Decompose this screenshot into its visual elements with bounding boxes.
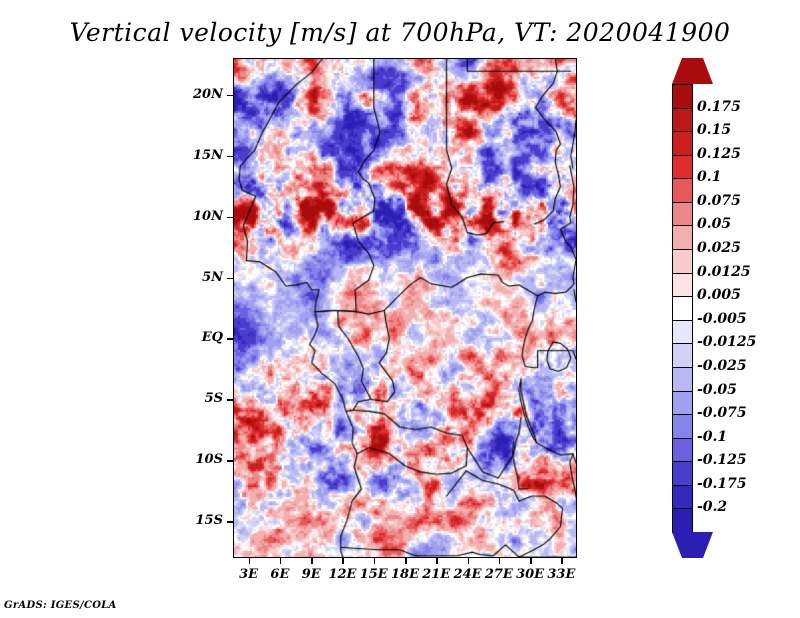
map-plot-area	[233, 58, 577, 558]
colorbar-swatch	[672, 249, 693, 274]
colorbar-tick-label: -0.1	[697, 429, 727, 445]
colorbar-swatch	[672, 391, 693, 416]
colorbar-tick-label: -0.05	[697, 382, 737, 398]
colorbar-tick-label: -0.025	[697, 358, 747, 374]
latitude-tick-label: 10S	[163, 452, 223, 467]
longitude-tick-mark	[468, 558, 470, 564]
colorbar-swatch	[672, 178, 693, 203]
latitude-tick-label: 10N	[163, 209, 223, 224]
longitude-tick-label: 33E	[541, 567, 581, 582]
colorbar-tick-label: -0.005	[697, 311, 747, 327]
latitude-tick-label: EQ	[163, 330, 223, 345]
longitude-tick-mark	[530, 558, 532, 564]
colorbar-tick-label: 0.075	[697, 193, 741, 209]
colorbar-swatch	[672, 155, 693, 180]
longitude-tick-mark	[561, 558, 563, 564]
latitude-tick-label: 5S	[163, 391, 223, 406]
latitude-tick-mark	[227, 156, 233, 158]
longitude-tick-mark	[436, 558, 438, 564]
longitude-tick-mark	[280, 558, 282, 564]
colorbar	[672, 58, 693, 558]
latitude-tick-mark	[227, 278, 233, 280]
longitude-tick-mark	[405, 558, 407, 564]
longitude-tick-mark	[374, 558, 376, 564]
colorbar-swatch	[672, 108, 693, 133]
colorbar-tick-label: -0.175	[697, 476, 747, 492]
colorbar-swatch	[672, 343, 693, 368]
colorbar-tick-label: -0.2	[697, 499, 727, 515]
colorbar-tick-label: -0.0125	[697, 334, 756, 350]
colorbar-swatch	[672, 131, 693, 156]
colorbar-swatch	[672, 320, 693, 345]
latitude-tick-label: 20N	[163, 87, 223, 102]
vertical-velocity-field	[234, 59, 576, 557]
latitude-tick-mark	[227, 338, 233, 340]
footer-credit: GrADS: IGES/COLA	[4, 600, 117, 611]
colorbar-tick-label: -0.075	[697, 405, 747, 421]
colorbar-tick-label: 0.125	[697, 146, 741, 162]
colorbar-swatch	[672, 84, 693, 109]
colorbar-bottom-arrow	[672, 532, 713, 558]
colorbar-swatch	[672, 438, 693, 463]
colorbar-tick-label: 0.175	[697, 99, 741, 115]
colorbar-tick-label: 0.005	[697, 287, 741, 303]
colorbar-swatch	[672, 273, 693, 298]
colorbar-swatch	[672, 202, 693, 227]
colorbar-tick-label: 0.05	[697, 216, 731, 232]
latitude-tick-mark	[227, 521, 233, 523]
colorbar-tick-label: -0.125	[697, 452, 747, 468]
latitude-tick-label: 15N	[163, 148, 223, 163]
longitude-tick-mark	[249, 558, 251, 564]
colorbar-tick-label: 0.15	[697, 122, 731, 138]
latitude-tick-mark	[227, 399, 233, 401]
colorbar-swatch	[672, 461, 693, 486]
page-title: Vertical velocity [m/s] at 700hPa, VT: 2…	[0, 18, 800, 47]
longitude-tick-mark	[342, 558, 344, 564]
latitude-tick-mark	[227, 460, 233, 462]
colorbar-swatch	[672, 485, 693, 510]
colorbar-tick-label: 0.025	[697, 240, 741, 256]
latitude-tick-label: 5N	[163, 270, 223, 285]
colorbar-swatch	[672, 296, 693, 321]
colorbar-swatch	[672, 508, 693, 533]
colorbar-swatch	[672, 367, 693, 392]
latitude-tick-label: 15S	[163, 513, 223, 528]
longitude-tick-mark	[311, 558, 313, 564]
colorbar-tick-label: 0.0125	[697, 264, 751, 280]
colorbar-top-arrow	[672, 58, 713, 84]
colorbar-swatch	[672, 225, 693, 250]
colorbar-swatch	[672, 414, 693, 439]
latitude-tick-mark	[227, 95, 233, 97]
longitude-tick-mark	[499, 558, 501, 564]
latitude-tick-mark	[227, 217, 233, 219]
colorbar-tick-label: 0.1	[697, 169, 721, 185]
